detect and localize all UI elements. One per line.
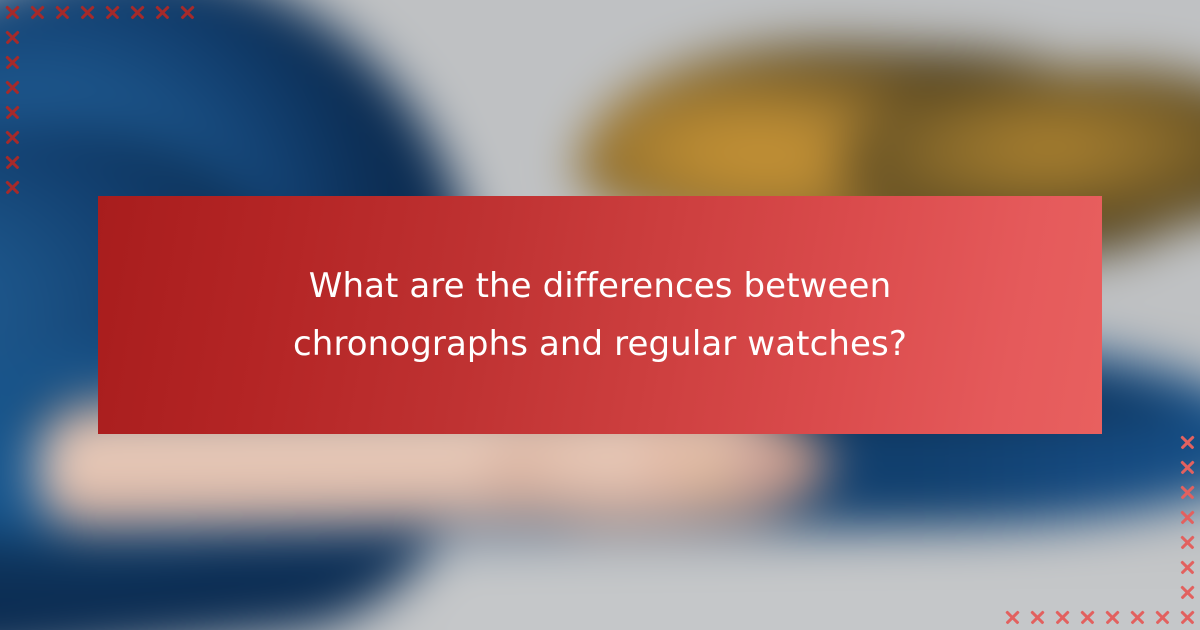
social-share-card: What are the differences between chronog… <box>0 0 1200 630</box>
title-banner: What are the differences between chronog… <box>98 196 1102 434</box>
page-title: What are the differences between chronog… <box>290 257 910 374</box>
photo-nail-polish <box>644 431 809 499</box>
